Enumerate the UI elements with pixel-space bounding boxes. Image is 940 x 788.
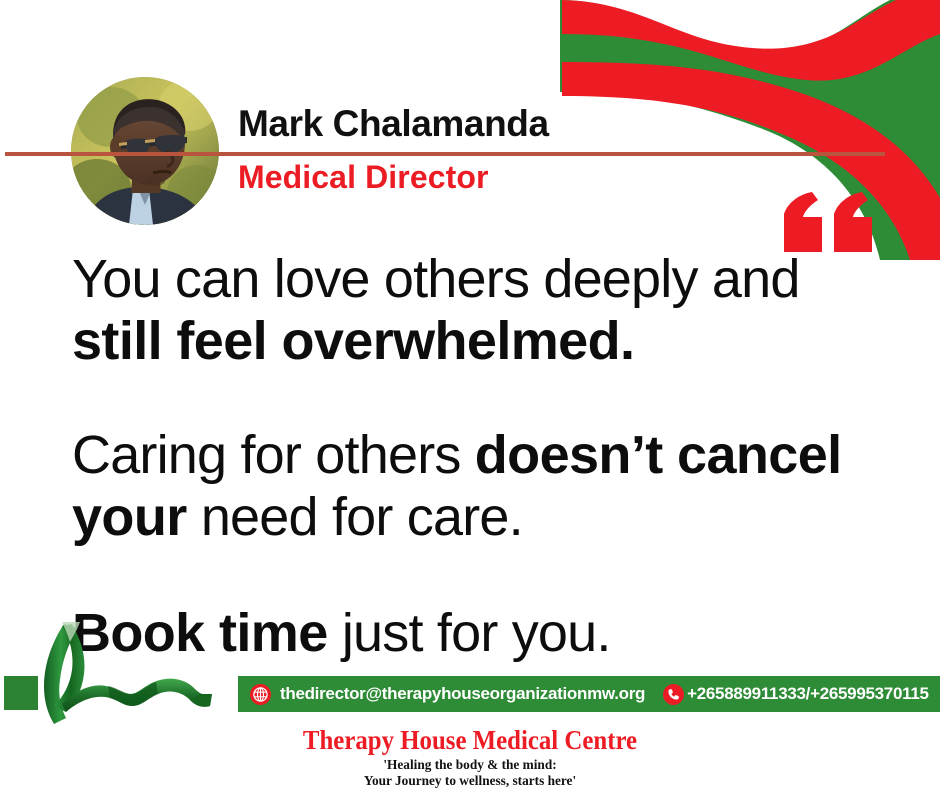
quote-p2-regular-b: need for care.: [187, 487, 523, 547]
quote-p2-regular-a: Caring for others: [72, 425, 475, 485]
globe-icon: [250, 684, 271, 705]
poster-canvas: Mark Chalamanda Medical Director You can…: [0, 0, 940, 788]
quote-mark-icon: [782, 192, 878, 252]
quote-paragraph-2: Caring for others doesn’t cancel your ne…: [72, 424, 872, 548]
brand-tagline-line1: 'Healing the body & the mind:: [24, 754, 917, 774]
quote-p1-regular: You can love others deeply and: [72, 249, 800, 309]
avatar: [71, 77, 219, 225]
identity-text-block: Mark Chalamanda Medical Director: [238, 72, 838, 196]
brand-name: Therapy House Medical Centre: [38, 726, 903, 754]
quote-body: You can love others deeply and still fee…: [72, 248, 872, 664]
brand-tagline-line2: Your Journey to wellness, starts here': [24, 774, 917, 788]
contact-email[interactable]: thedirector@therapyhouseorganizationmw.o…: [250, 676, 645, 712]
quote-p1-bold: still feel overwhelmed.: [72, 311, 634, 371]
contact-phone-text: +265889911333/+265995370115: [687, 684, 929, 704]
contact-phone[interactable]: +265889911333/+265995370115: [663, 676, 929, 712]
wave-red-band-upper: [562, 0, 940, 81]
person-role: Medical Director: [238, 146, 838, 196]
quote-paragraph-1: You can love others deeply and still fee…: [72, 248, 872, 372]
contact-email-text: thedirector@therapyhouseorganizationmw.o…: [280, 684, 645, 704]
phone-icon: [663, 684, 684, 705]
contact-bar: thedirector@therapyhouseorganizationmw.o…: [238, 676, 940, 712]
brand-footer: Therapy House Medical Centre 'Healing th…: [0, 726, 940, 788]
page-title: Mark Chalamanda: [238, 72, 838, 146]
quote-p3-regular: just for you.: [328, 603, 611, 663]
